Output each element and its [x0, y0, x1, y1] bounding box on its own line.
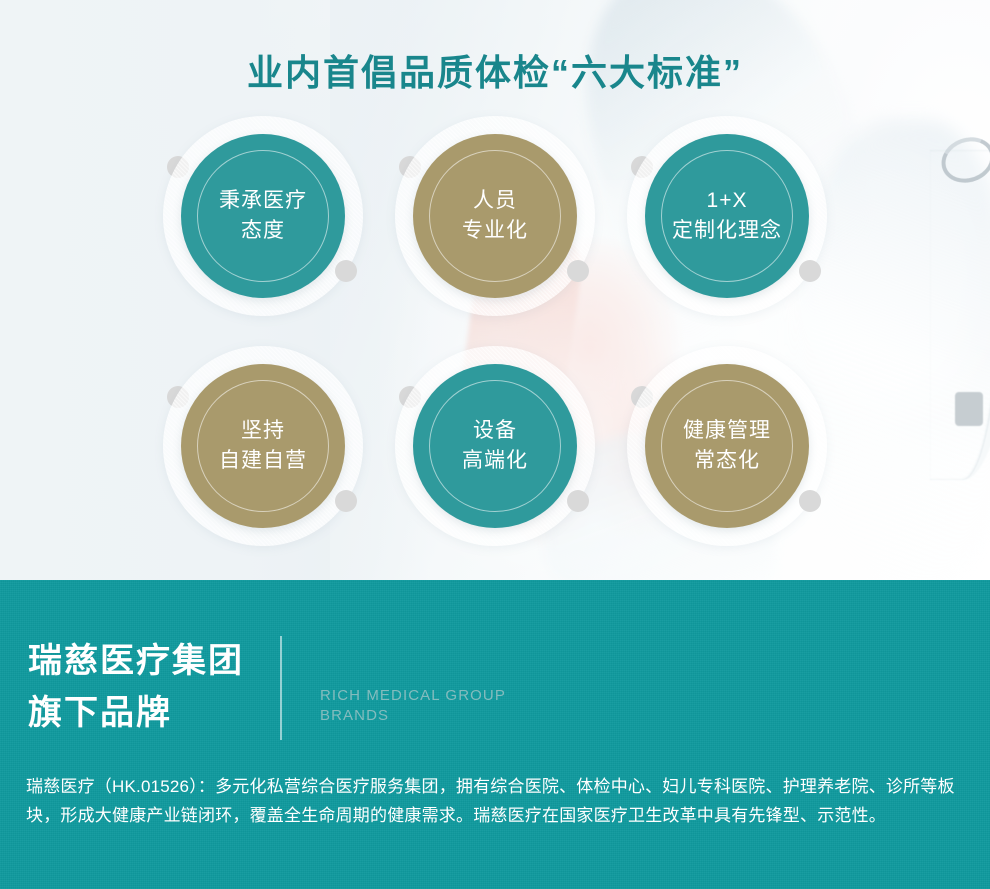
brand-name-en-line-2: BRANDS — [320, 706, 506, 726]
standard-item-one-plus-x[interactable]: 1+X 定制化理念 — [619, 108, 835, 324]
brand-name-cn: 瑞慈医疗集团 旗下品牌 — [28, 636, 244, 739]
standard-line-1: 设备 — [473, 416, 517, 446]
brand-name-en: RICH MEDICAL GROUP BRANDS — [320, 686, 506, 726]
standard-badge[interactable]: 健康管理 常态化 — [645, 364, 809, 528]
stethoscope-tube — [930, 150, 990, 480]
standard-item-staff-professional[interactable]: 人员 专业化 — [387, 108, 603, 324]
standard-badge[interactable]: 人员 专业化 — [413, 134, 577, 298]
decor-dot-icon — [567, 490, 589, 512]
standard-item-self-built[interactable]: 坚持 自建自营 — [155, 338, 371, 554]
promo-page: 业内首倡品质体检“六大标准” 秉承医疗 态度 人员 专业化 — [0, 0, 990, 889]
stethoscope-clip — [955, 392, 983, 426]
standard-line-2: 高端化 — [462, 446, 528, 476]
standard-line-2: 定制化理念 — [672, 216, 782, 246]
standard-line-2: 自建自营 — [219, 446, 307, 476]
standard-badge[interactable]: 秉承医疗 态度 — [181, 134, 345, 298]
standard-line-1: 健康管理 — [683, 416, 771, 446]
brand-divider — [280, 636, 282, 740]
decor-dot-icon — [335, 260, 357, 282]
standard-line-1: 秉承医疗 — [219, 186, 307, 216]
standards-grid: 秉承医疗 态度 人员 专业化 1+X 定制化理念 — [155, 108, 855, 538]
standard-line-1: 坚持 — [241, 416, 285, 446]
brand-heading-row: 瑞慈医疗集团 旗下品牌 RICH MEDICAL GROUP BRANDS — [28, 636, 506, 740]
decor-dot-icon — [799, 260, 821, 282]
decor-dot-icon — [335, 490, 357, 512]
standard-line-2: 态度 — [241, 216, 285, 246]
brand-name-cn-line-1: 瑞慈医疗集团 — [28, 636, 244, 688]
standard-item-equipment-highend[interactable]: 设备 高端化 — [387, 338, 603, 554]
standard-badge[interactable]: 1+X 定制化理念 — [645, 134, 809, 298]
page-title: 业内首倡品质体检“六大标准” — [0, 44, 990, 96]
standard-line-1: 1+X — [707, 186, 748, 216]
standard-badge[interactable]: 设备 高端化 — [413, 364, 577, 528]
brand-description: 瑞慈医疗（HK.01526）：多元化私营综合医疗服务集团，拥有综合医院、体检中心… — [26, 772, 956, 830]
standard-item-medical-attitude[interactable]: 秉承医疗 态度 — [155, 108, 371, 324]
standard-line-2: 常态化 — [694, 446, 760, 476]
brand-name-en-line-1: RICH MEDICAL GROUP — [320, 686, 506, 706]
hero-section: 业内首倡品质体检“六大标准” 秉承医疗 态度 人员 专业化 — [0, 0, 990, 580]
brand-name-cn-line-2: 旗下品牌 — [28, 688, 244, 740]
standard-item-health-management[interactable]: 健康管理 常态化 — [619, 338, 835, 554]
standard-line-2: 专业化 — [462, 216, 528, 246]
decor-dot-icon — [799, 490, 821, 512]
standard-badge[interactable]: 坚持 自建自营 — [181, 364, 345, 528]
standard-line-1: 人员 — [473, 186, 517, 216]
decor-dot-icon — [567, 260, 589, 282]
